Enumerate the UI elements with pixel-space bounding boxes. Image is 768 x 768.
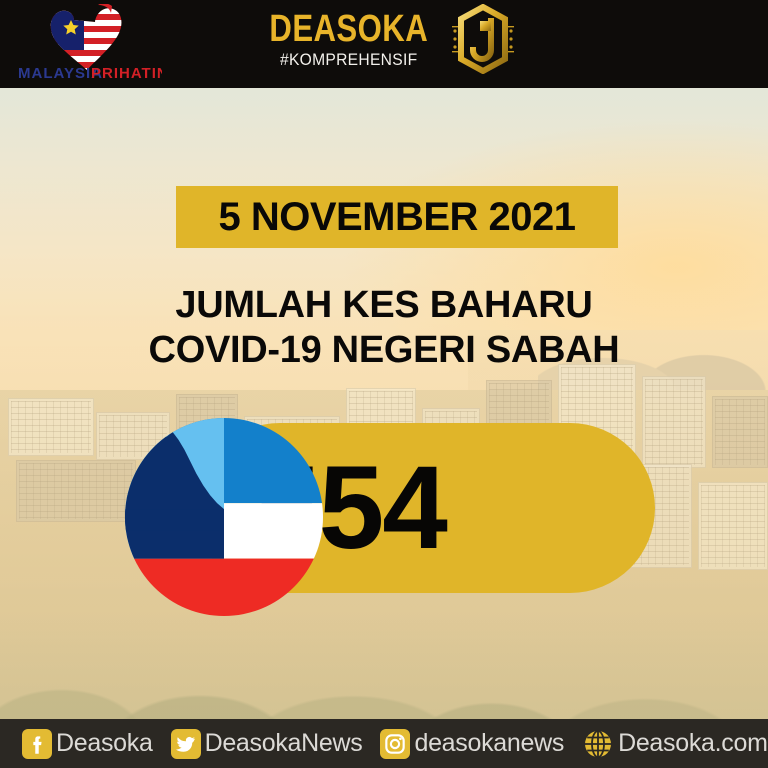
social-label: Deasoka [56, 729, 153, 758]
sabah-flag-circle [125, 418, 323, 616]
facebook-icon [22, 729, 52, 759]
background-photo-kota-kinabalu [0, 0, 768, 768]
headline: JUMLAH KES BAHARU COVID-19 NEGERI SABAH [0, 283, 768, 373]
brand-tagline: #KOMPREHENSIF [280, 50, 417, 70]
social-label: DeasokaNews [205, 729, 363, 758]
social-label: deasokanews [414, 729, 564, 758]
globe-icon [582, 728, 614, 760]
headline-line-1: JUMLAH KES BAHARU [0, 283, 768, 328]
social-twitter[interactable]: DeasokaNews [171, 729, 363, 759]
date-text: 5 NOVEMBER 2021 [218, 195, 575, 240]
date-banner: 5 NOVEMBER 2021 [176, 186, 618, 248]
social-website[interactable]: Deasoka.com [582, 728, 768, 760]
social-instagram[interactable]: deasokanews [380, 729, 564, 759]
social-facebook[interactable]: Deasoka [22, 729, 153, 759]
brand-lockup: DEASOKA #KOMPREHENSIF [0, 4, 768, 74]
social-label: Deasoka.com [618, 729, 768, 758]
brand-name: DEASOKA [270, 9, 429, 49]
infographic-poster: MALAYSIA PRIHATIN DEASOKA #KOMPREHENSIF [0, 0, 768, 768]
footer-bar: Deasoka DeasokaNews deasokanews [0, 719, 768, 768]
deasoka-hexagon-logo [450, 4, 516, 74]
instagram-icon [380, 729, 410, 759]
background-haze-overlay [0, 0, 768, 768]
twitter-icon [171, 729, 201, 759]
headline-line-2: COVID-19 NEGERI SABAH [0, 328, 768, 373]
header-bar: MALAYSIA PRIHATIN DEASOKA #KOMPREHENSIF [0, 0, 768, 88]
